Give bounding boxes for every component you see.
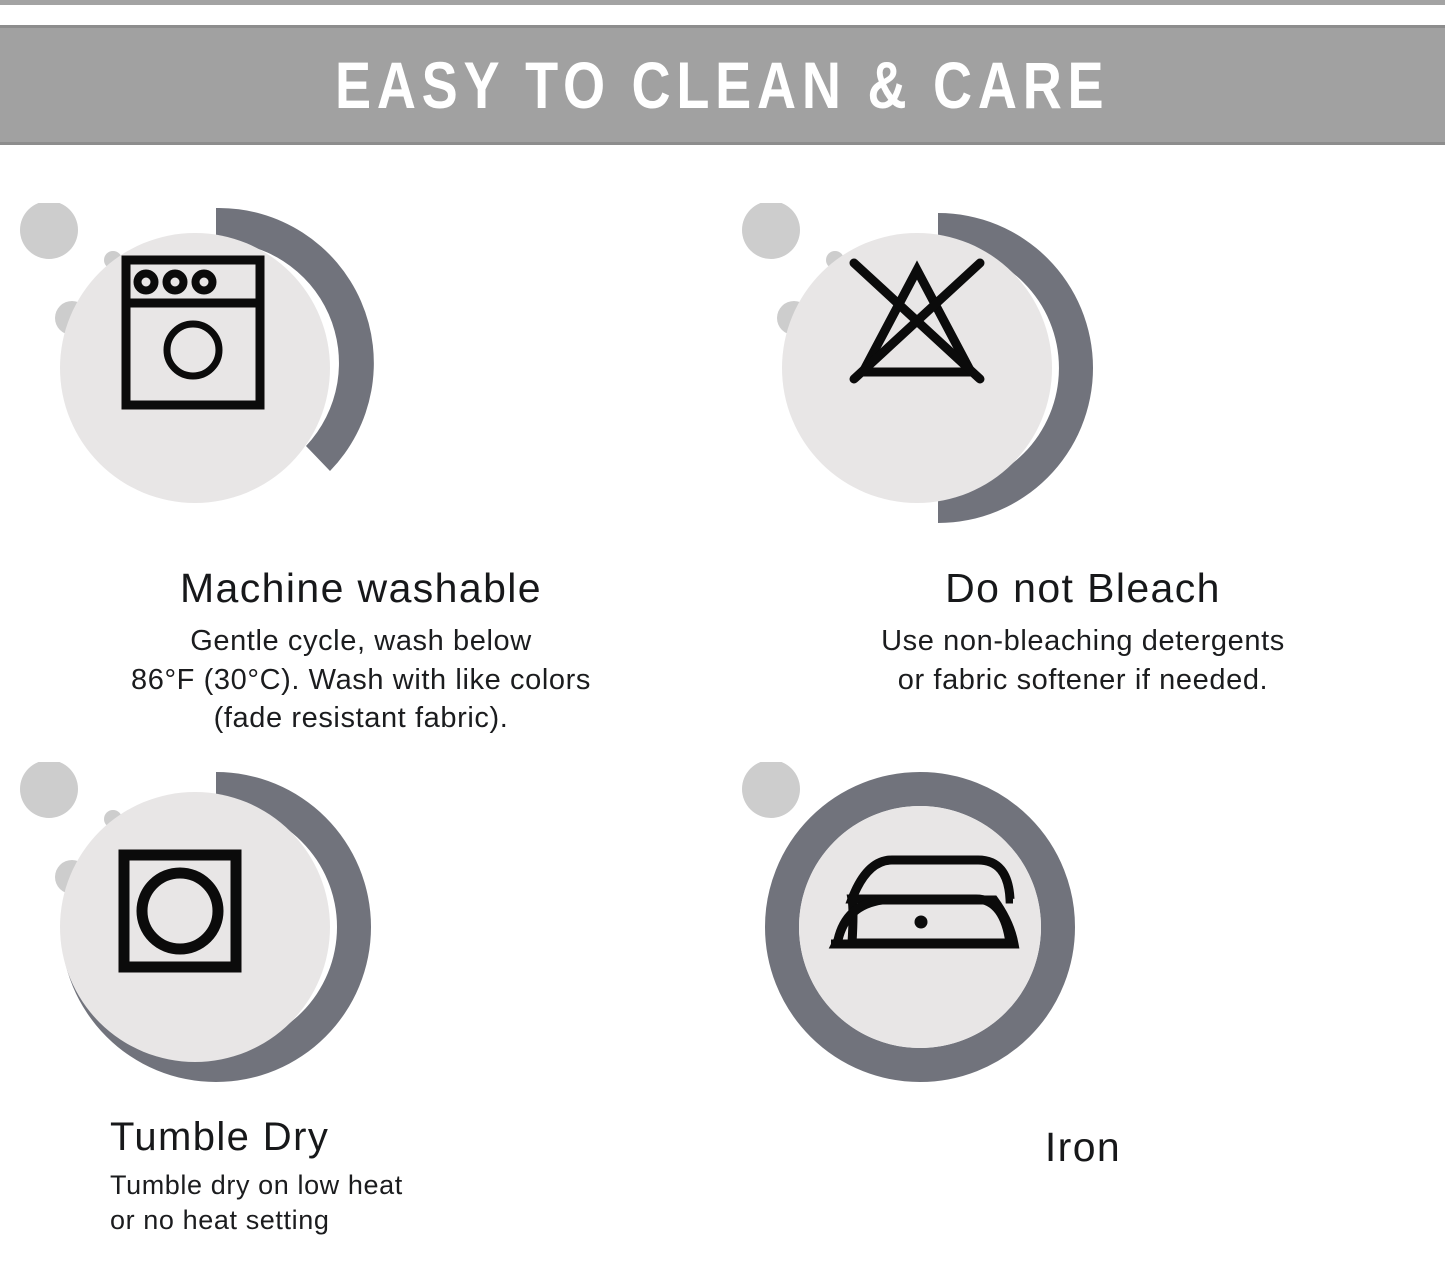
page-title: EASY TO CLEAN & CARE (335, 52, 1109, 118)
care-item-iron: Iron (722, 704, 1444, 1263)
header-banner: EASY TO CLEAN & CARE (0, 25, 1445, 145)
badge-do-not-bleach (742, 203, 1122, 563)
bubble-large-icon (742, 203, 800, 259)
care-instructions-infographic: EASY TO CLEAN & CARE (0, 0, 1445, 1263)
care-title: Tumble Dry (110, 1114, 722, 1160)
care-title: Do not Bleach (722, 565, 1444, 612)
bubble-large-icon (742, 762, 800, 818)
care-description: Use non-bleaching detergents or fabric s… (722, 622, 1444, 699)
badge-iron (742, 762, 1122, 1122)
caption-iron: Iron (722, 1124, 1444, 1181)
bubble-large-icon (20, 762, 78, 818)
iron-heat-dot (915, 916, 928, 929)
care-item-tumble-dry: Tumble Dry Tumble dry on low heat or no … (0, 704, 722, 1263)
care-title: Iron (722, 1124, 1444, 1171)
banner-top-edge (0, 25, 1445, 28)
icon-disc (60, 792, 330, 1062)
care-item-do-not-bleach: Do not Bleach Use non-bleaching detergen… (722, 145, 1444, 704)
badge-machine-washable (20, 203, 400, 563)
caption-do-not-bleach: Do not Bleach Use non-bleaching detergen… (722, 565, 1444, 699)
bubble-large-icon (20, 203, 78, 259)
care-icon-grid: Machine washable Gentle cycle, wash belo… (0, 145, 1445, 1263)
caption-tumble-dry: Tumble Dry Tumble dry on low heat or no … (0, 1114, 722, 1238)
care-item-machine-washable: Machine washable Gentle cycle, wash belo… (0, 145, 722, 704)
badge-tumble-dry (20, 762, 400, 1122)
care-description: Tumble dry on low heat or no heat settin… (110, 1168, 722, 1238)
care-title: Machine washable (0, 565, 722, 612)
top-divider (0, 0, 1445, 5)
